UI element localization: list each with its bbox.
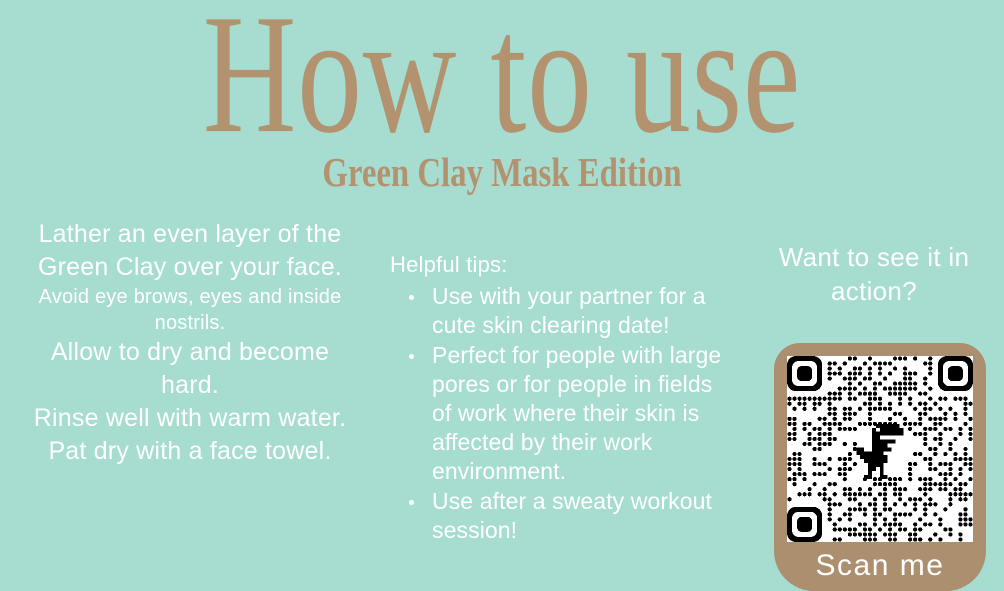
list-item-label: Perfect for people with large pores or f… [432,342,721,484]
instruction-note: Avoid eye brows, eyes and inside nostril… [30,284,350,336]
bullet-icon [409,354,414,359]
how-to-use-poster: How to use Green Clay Mask Edition Lathe… [0,0,1004,591]
list-item: Use with your partner for a cute skin cl… [390,282,730,340]
instructions-column: Lather an even layer of the Green Clay o… [30,218,350,468]
list-item: Use after a sweaty workout session! [390,487,730,545]
list-item: Perfect for people with large pores or f… [390,341,730,486]
qr-code-image[interactable] [787,356,973,542]
instruction-step: Allow to dry and become hard. [30,336,350,402]
scan-me-label: Scan me [774,548,986,584]
tips-list: Use with your partner for a cute skin cl… [390,282,730,545]
cta-prompt: Want to see it in action? [744,240,1004,308]
list-item-label: Use after a sweaty workout session! [432,488,712,543]
call-to-action-column: Want to see it in action? [744,240,1004,308]
instruction-step: Lather an even layer of the Green Clay o… [30,218,350,284]
qr-code-svg [787,356,973,542]
helpful-tips-column: Helpful tips: Use with your partner for … [390,250,730,546]
bullet-icon [409,500,414,505]
bullet-icon [409,295,414,300]
qr-code-card[interactable]: Scan me [774,343,986,591]
tips-heading: Helpful tips: [390,250,730,280]
instruction-step: Pat dry with a face towel. [30,435,350,468]
page-subtitle: Green Clay Mask Edition [100,150,903,194]
list-item-label: Use with your partner for a cute skin cl… [432,283,706,338]
instruction-step: Rinse well with warm water. [30,402,350,435]
page-title: How to use [90,0,913,156]
